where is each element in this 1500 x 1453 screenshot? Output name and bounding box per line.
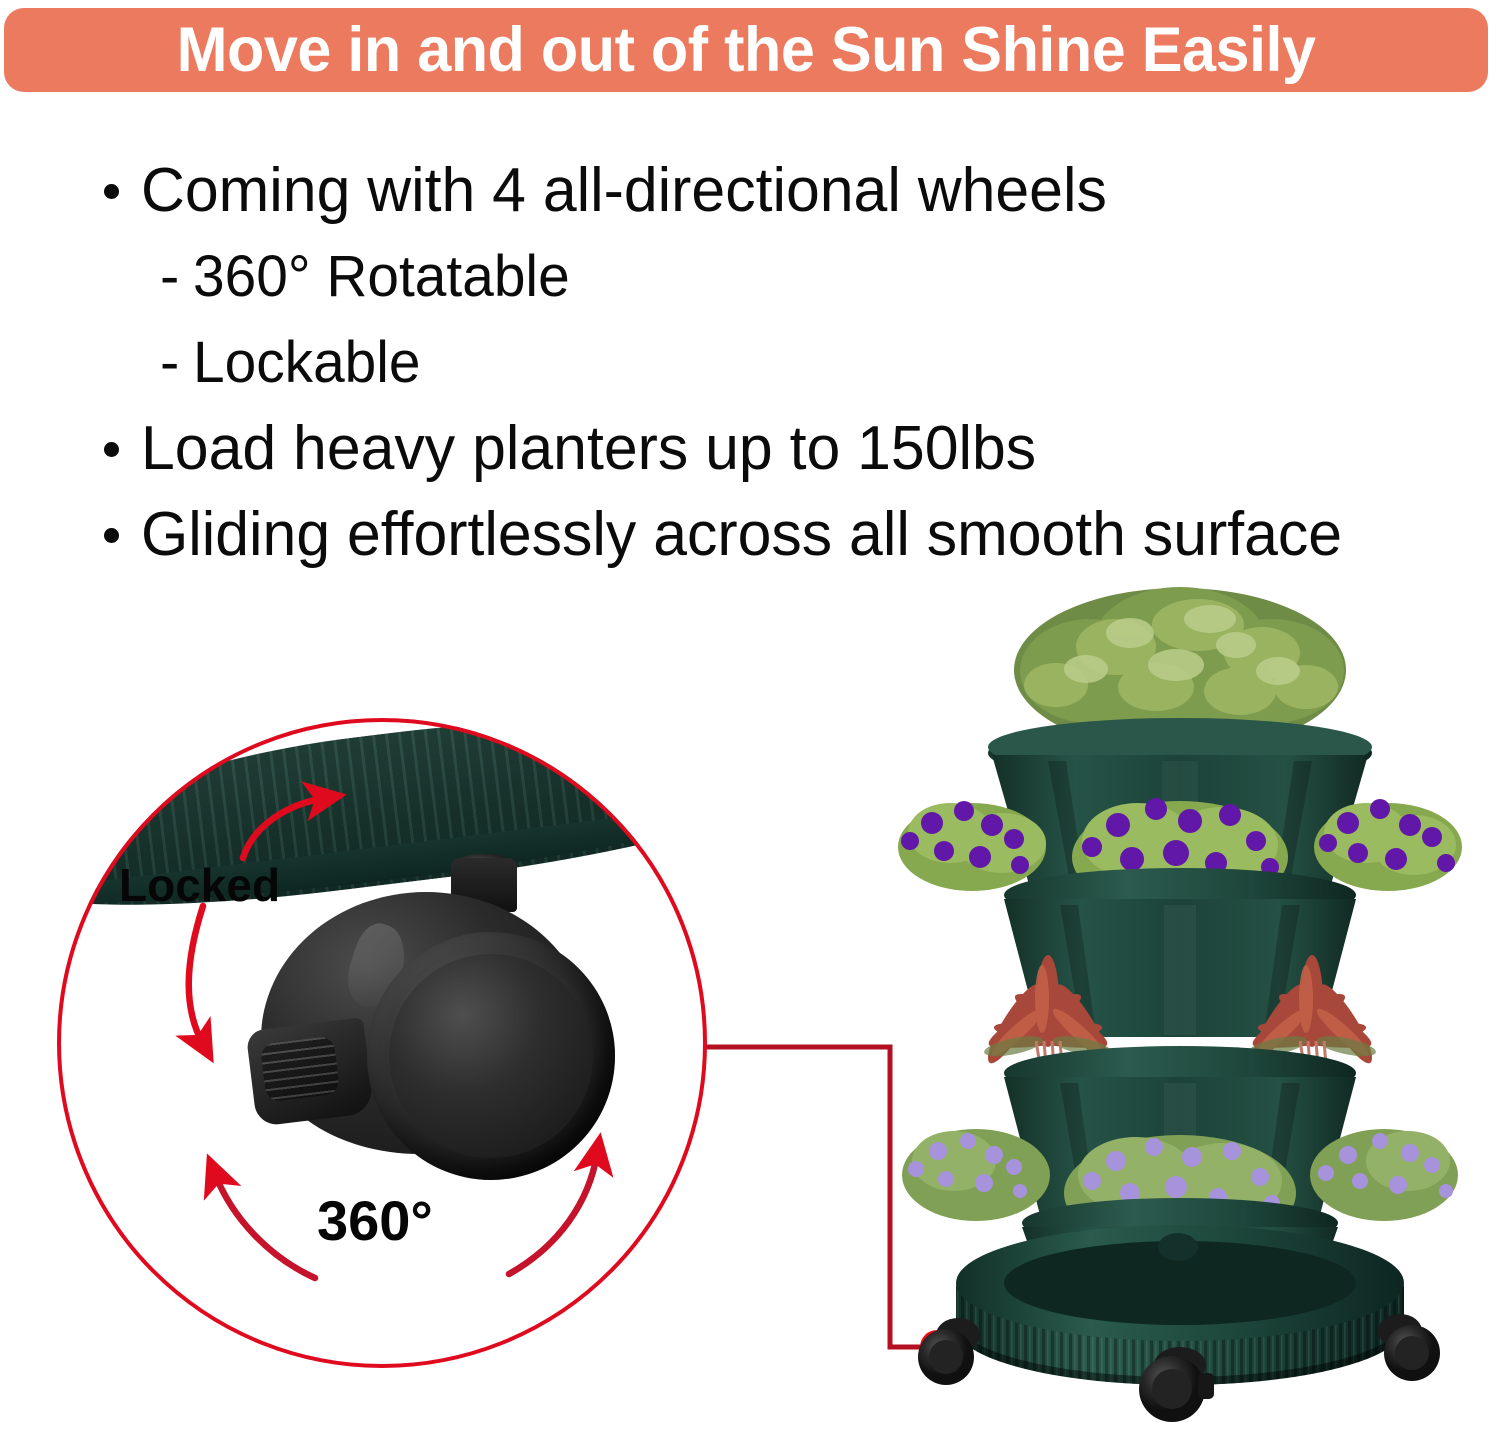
list-item: Gliding effortlessly across all smooth s… — [104, 492, 1474, 578]
bullet-dot-icon — [104, 528, 119, 543]
stackable-planter-product — [880, 575, 1480, 1435]
caster-detail-callout: Locked 360° — [57, 718, 707, 1368]
header-banner: Move in and out of the Sun Shine Easily — [4, 8, 1488, 92]
rotation-arrow-left-icon — [215, 1174, 315, 1278]
bullet-dot-icon — [104, 184, 119, 199]
dash-marker-icon: - — [160, 320, 179, 406]
list-item-label: Gliding effortlessly across all smooth s… — [141, 492, 1342, 578]
dash-marker-icon: - — [160, 234, 179, 320]
list-item-label: Load heavy planters up to 150lbs — [141, 406, 1036, 492]
list-item: - Lockable — [160, 320, 1474, 406]
caster-wheel-left — [918, 1318, 980, 1385]
locked-arrow-up-icon — [243, 798, 325, 858]
caster-wheel-right — [1378, 1314, 1440, 1381]
banner-title: Move in and out of the Sun Shine Easily — [177, 19, 1316, 82]
callout-annotation-arrows — [57, 718, 707, 1368]
list-item: - 360° Rotatable — [160, 234, 1474, 320]
list-item-label: Lockable — [193, 320, 421, 406]
locked-label: Locked — [119, 858, 280, 912]
list-item-label: Coming with 4 all-directional wheels — [141, 148, 1107, 234]
planter-illustration — [880, 575, 1480, 1435]
list-item: Coming with 4 all-directional wheels — [104, 148, 1474, 234]
rotation-label: 360° — [317, 1188, 433, 1253]
list-item-label: 360° Rotatable — [193, 234, 570, 320]
rotation-arrow-right-icon — [509, 1154, 597, 1274]
feature-list: Coming with 4 all-directional wheels - 3… — [104, 148, 1474, 578]
locked-arrow-down-icon — [189, 906, 203, 1044]
bullet-dot-icon — [104, 442, 119, 457]
caster-wheel-back — [1158, 1233, 1198, 1261]
list-item: Load heavy planters up to 150lbs — [104, 406, 1474, 492]
